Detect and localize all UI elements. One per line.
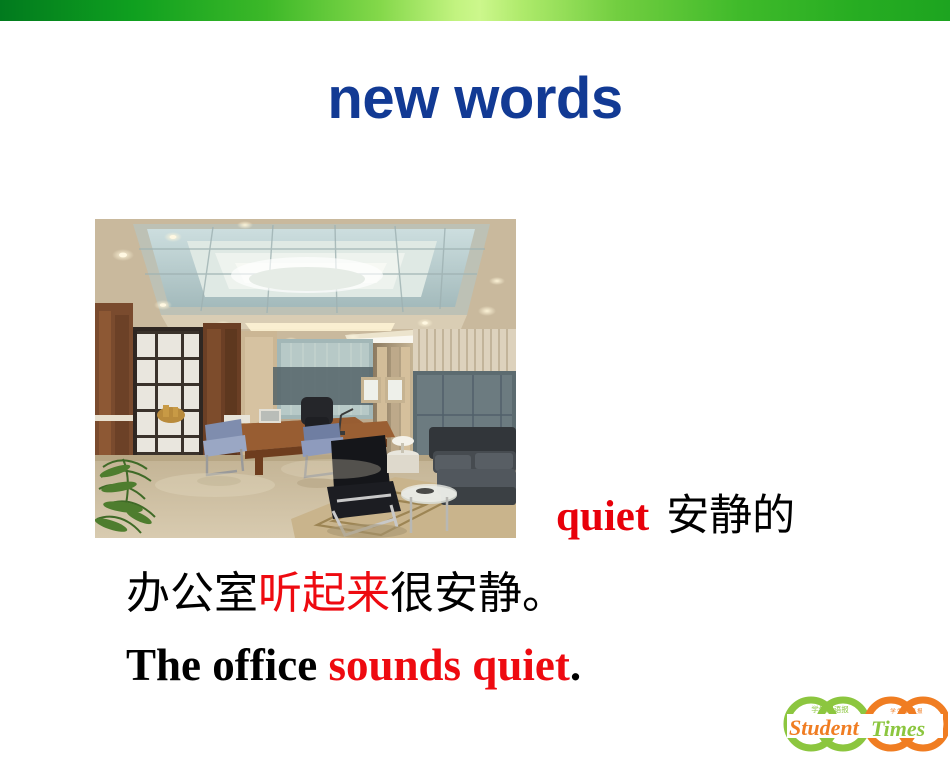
example-cn-before: 办公室 — [126, 568, 258, 619]
example-sentence-chinese: 办公室听起来很安静。 — [126, 570, 566, 618]
example-en-before: The office — [126, 640, 328, 690]
vocab-word-chinese: 安静的 — [666, 491, 795, 541]
student-times-logo: 学生双语报 学生双语报 Student Times — [783, 688, 948, 756]
top-green-gradient-bar — [0, 0, 950, 21]
vocab-word-line: quiet安静的 — [556, 481, 795, 543]
example-cn-after: 很安静。 — [390, 568, 566, 619]
example-en-after: . — [570, 640, 581, 690]
vocab-word-english: quiet — [556, 493, 649, 540]
page-title: new words — [0, 66, 950, 132]
office-photo — [95, 219, 516, 538]
office-photo-illustration — [95, 219, 516, 538]
logo-chinese-left: 学生双语报 — [811, 704, 849, 714]
example-cn-highlight: 听起来 — [258, 568, 390, 619]
logo-chinese-right: 学生双语报 — [890, 707, 924, 715]
example-sentence-english: The office sounds quiet. — [126, 640, 581, 690]
logo-word-student: Student — [789, 715, 860, 740]
student-times-logo-graphic: 学生双语报 学生双语报 Student Times — [783, 688, 948, 756]
example-en-highlight: sounds quiet — [328, 640, 569, 690]
logo-word-times: Times — [871, 716, 925, 741]
